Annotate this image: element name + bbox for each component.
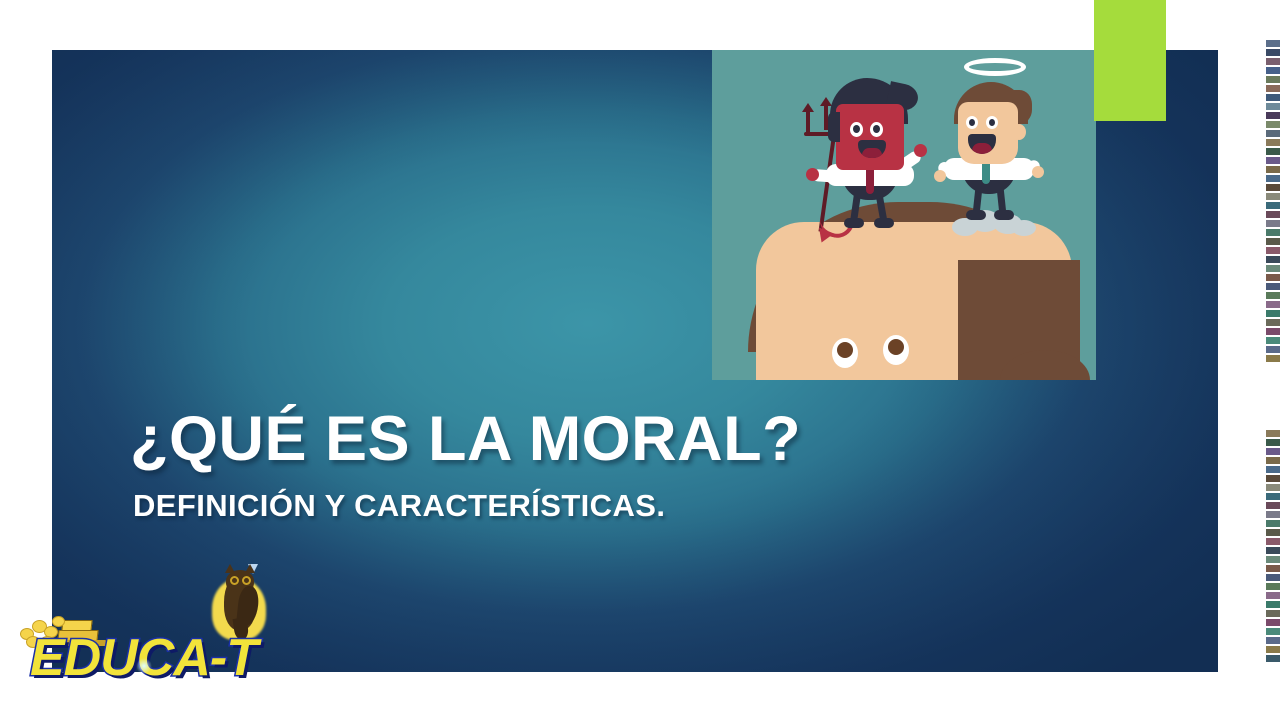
sidebar-thumbnail[interactable] (1266, 520, 1280, 527)
sidebar-thumbnail[interactable] (1266, 283, 1280, 290)
sidebar-thumbnail[interactable] (1266, 238, 1280, 245)
sidebar-thumbnail[interactable] (1266, 583, 1280, 590)
sidebar-thumb-column-top[interactable] (1266, 40, 1280, 364)
sidebar-thumbnail[interactable] (1266, 337, 1280, 344)
devil-face (836, 104, 904, 170)
sidebar-thumbnail[interactable] (1266, 256, 1280, 263)
sidebar-thumbnail[interactable] (1266, 637, 1280, 644)
sidebar-thumbnail[interactable] (1266, 247, 1280, 254)
title-block: ¿QUÉ ES LA MORAL? DEFINICIÓN Y CARACTERÍ… (130, 406, 801, 524)
slide-subtitle: DEFINICIÓN Y CARACTERÍSTICAS. (133, 488, 801, 524)
head-eye-left (832, 338, 858, 368)
green-accent-rectangle (1094, 0, 1166, 121)
sidebar-thumbnail[interactable] (1266, 493, 1280, 500)
video-sidebar-sliver[interactable] (1262, 0, 1280, 720)
head-eye-right (883, 335, 909, 365)
sidebar-thumb-column-bottom[interactable] (1266, 430, 1280, 664)
sidebar-thumbnail[interactable] (1266, 355, 1280, 362)
sidebar-thumbnail[interactable] (1266, 301, 1280, 308)
sidebar-thumbnail[interactable] (1266, 592, 1280, 599)
sidebar-thumbnail[interactable] (1266, 58, 1280, 65)
sidebar-thumbnail[interactable] (1266, 229, 1280, 236)
angel-face (958, 102, 1018, 164)
sidebar-thumbnail[interactable] (1266, 139, 1280, 146)
sidebar-thumbnail[interactable] (1266, 85, 1280, 92)
illustration-angel-and-devil (712, 50, 1096, 380)
sidebar-thumbnail[interactable] (1266, 220, 1280, 227)
logo-glint (136, 658, 152, 674)
halo-icon (964, 58, 1026, 76)
sidebar-thumbnail[interactable] (1266, 40, 1280, 47)
sidebar-thumbnail[interactable] (1266, 103, 1280, 110)
sidebar-thumbnail[interactable] (1266, 94, 1280, 101)
sidebar-thumbnail[interactable] (1266, 484, 1280, 491)
sidebar-thumbnail[interactable] (1266, 556, 1280, 563)
sidebar-thumbnail[interactable] (1266, 610, 1280, 617)
sidebar-thumbnail[interactable] (1266, 193, 1280, 200)
sidebar-thumbnail[interactable] (1266, 49, 1280, 56)
sidebar-thumbnail[interactable] (1266, 511, 1280, 518)
sidebar-thumbnail[interactable] (1266, 538, 1280, 545)
sidebar-thumbnail[interactable] (1266, 346, 1280, 353)
angel-mouth (968, 134, 996, 154)
sidebar-thumbnail[interactable] (1266, 175, 1280, 182)
educa-t-logo: EDUCA-T (18, 562, 288, 702)
sidebar-thumbnail[interactable] (1266, 601, 1280, 608)
sidebar-thumbnail[interactable] (1266, 67, 1280, 74)
sidebar-thumbnail[interactable] (1266, 430, 1280, 437)
sidebar-thumbnail[interactable] (1266, 475, 1280, 482)
sidebar-thumbnail[interactable] (1266, 457, 1280, 464)
sidebar-thumbnail[interactable] (1266, 646, 1280, 653)
sidebar-thumbnail[interactable] (1266, 310, 1280, 317)
sidebar-thumbnail[interactable] (1266, 121, 1280, 128)
sidebar-thumbnail[interactable] (1266, 328, 1280, 335)
sidebar-thumbnail[interactable] (1266, 112, 1280, 119)
sidebar-thumbnail[interactable] (1266, 274, 1280, 281)
sidebar-thumbnail[interactable] (1266, 565, 1280, 572)
sidebar-thumbnail[interactable] (1266, 628, 1280, 635)
sidebar-thumbnail[interactable] (1266, 265, 1280, 272)
devil-character (808, 78, 938, 248)
sidebar-thumbnail[interactable] (1266, 502, 1280, 509)
screenshot-canvas: ¿QUÉ ES LA MORAL? DEFINICIÓN Y CARACTERÍ… (0, 0, 1280, 720)
sidebar-thumbnail[interactable] (1266, 202, 1280, 209)
slide-title: ¿QUÉ ES LA MORAL? (130, 406, 801, 472)
sidebar-thumbnail[interactable] (1266, 448, 1280, 455)
sidebar-thumbnail[interactable] (1266, 157, 1280, 164)
sidebar-thumbnail[interactable] (1266, 655, 1280, 662)
sidebar-thumbnail[interactable] (1266, 619, 1280, 626)
sidebar-thumbnail[interactable] (1266, 130, 1280, 137)
devil-tie (866, 166, 874, 194)
sidebar-thumbnail[interactable] (1266, 292, 1280, 299)
sidebar-thumbnail[interactable] (1266, 166, 1280, 173)
sidebar-thumbnail[interactable] (1266, 574, 1280, 581)
sidebar-thumbnail[interactable] (1266, 211, 1280, 218)
sidebar-thumbnail[interactable] (1266, 184, 1280, 191)
sidebar-thumbnail[interactable] (1266, 529, 1280, 536)
sidebar-thumbnail[interactable] (1266, 439, 1280, 446)
devil-mouth (858, 140, 886, 158)
sidebar-thumbnail[interactable] (1266, 76, 1280, 83)
sidebar-thumbnail[interactable] (1266, 148, 1280, 155)
sidebar-thumbnail[interactable] (1266, 319, 1280, 326)
angel-character (940, 58, 1060, 236)
sidebar-thumbnail[interactable] (1266, 466, 1280, 473)
sidebar-thumbnail[interactable] (1266, 547, 1280, 554)
